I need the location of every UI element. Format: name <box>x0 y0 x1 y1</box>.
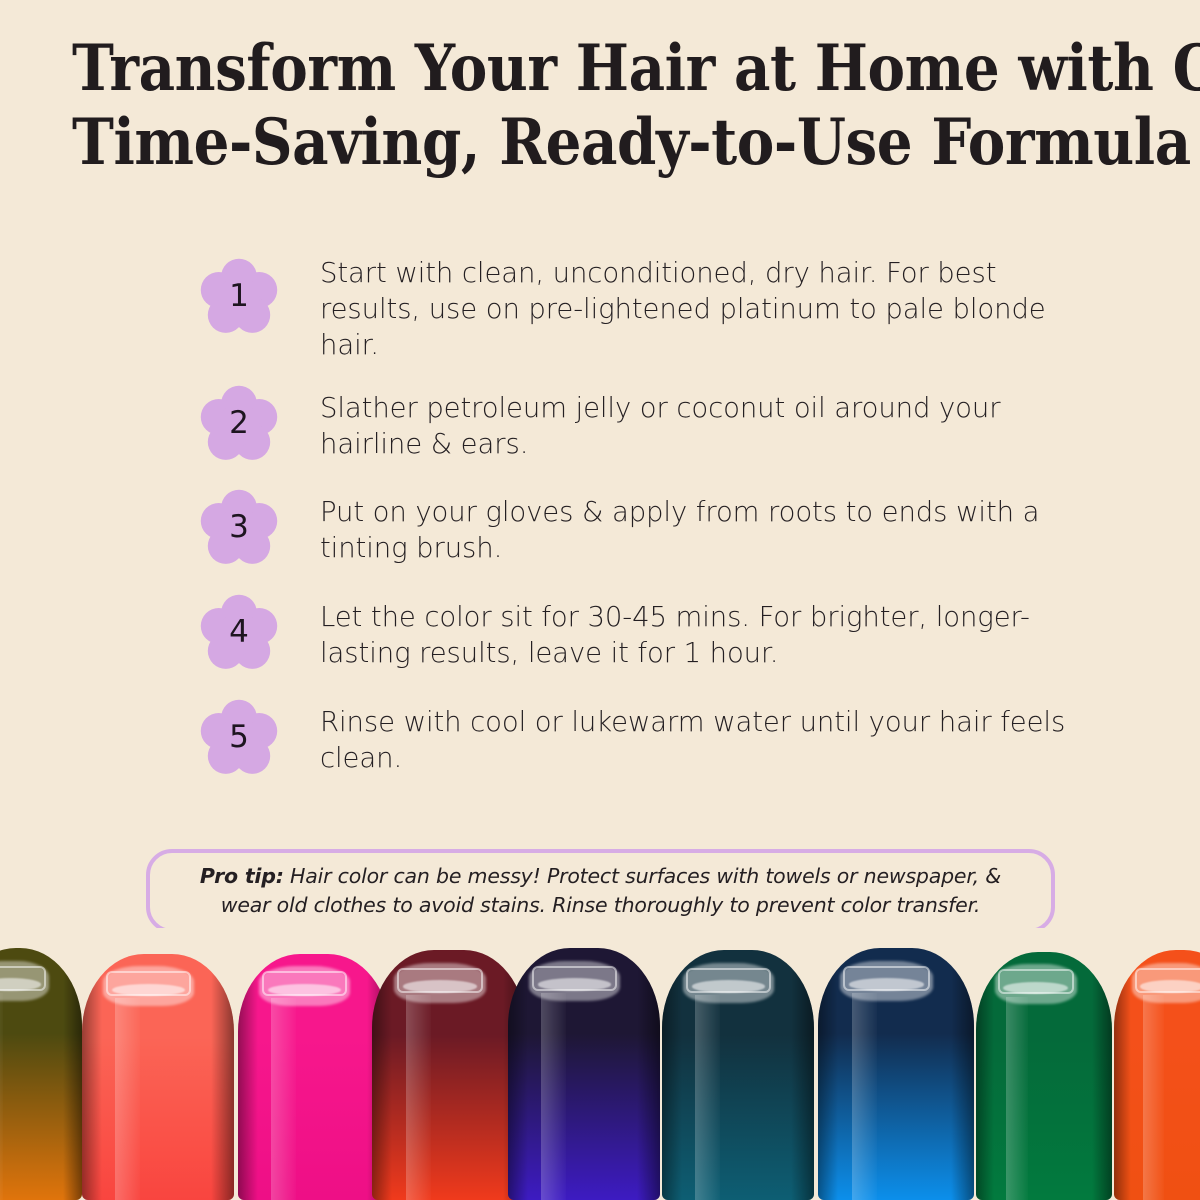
list-item: 5 Rinse with cool or lukewarm water unti… <box>200 697 1080 777</box>
bottle-edge-shadow <box>63 948 82 1200</box>
bottle-gloss <box>1006 997 1028 1200</box>
purple-bottle <box>508 948 660 1200</box>
bottle-edge-shadow <box>1114 950 1131 1200</box>
step-number: 2 <box>229 408 249 439</box>
step-badge-5: 5 <box>200 699 278 777</box>
page-title-line-1: Transform Your Hair at Home with Our <box>72 34 1128 104</box>
bottle-highlight <box>538 978 611 991</box>
step-text: Slather petroleum jelly or coconut oil a… <box>320 383 1080 463</box>
coral-bottle <box>82 954 234 1200</box>
step-number: 4 <box>229 617 249 648</box>
step-badge-3: 3 <box>200 489 278 567</box>
bottle-edge-shadow <box>637 948 660 1200</box>
bottle-edge-shadow <box>818 948 838 1200</box>
list-item: 2 Slather petroleum jelly or coconut oil… <box>200 383 1080 463</box>
bottle-highlight <box>268 984 341 996</box>
step-number: 5 <box>229 722 249 753</box>
step-number: 3 <box>229 512 249 543</box>
teal-bottle <box>662 950 814 1200</box>
bottle-edge-shadow <box>82 954 102 1200</box>
step-text: Let the color sit for 30-45 mins. For br… <box>320 592 1080 672</box>
list-item: 4 Let the color sit for 30-45 mins. For … <box>200 592 1080 672</box>
bottle-gloss <box>406 995 431 1200</box>
pro-tip-callout: Pro tip: Hair color can be messy! Protec… <box>146 849 1055 933</box>
blue-bottle <box>818 948 974 1200</box>
bottle-gloss <box>1143 995 1164 1200</box>
list-item: 1 Start with clean, unconditioned, dry h… <box>200 248 1080 363</box>
bottle-highlight <box>1140 980 1200 993</box>
step-text: Rinse with cool or lukewarm water until … <box>320 697 1080 777</box>
step-number: 1 <box>229 281 249 312</box>
pro-tip-body: Hair color can be messy! Protect surface… <box>221 864 1001 917</box>
bottle-edge-shadow <box>508 948 528 1200</box>
bottle-gloss <box>0 993 3 1200</box>
page-title: Transform Your Hair at Home with Our Tim… <box>0 34 1200 179</box>
bottle-gloss <box>541 993 565 1200</box>
bottle-edge-shadow <box>372 950 392 1200</box>
step-badge-4: 4 <box>200 594 278 672</box>
step-badge-2: 2 <box>200 385 278 463</box>
bottle-edge-shadow <box>662 950 682 1200</box>
green-bottle <box>976 952 1112 1200</box>
bottle-highlight <box>849 978 924 991</box>
bottle-edge-shadow <box>211 954 234 1200</box>
bottle-highlight <box>112 984 185 996</box>
bottle-edge-shadow <box>238 954 258 1200</box>
orange-bottle <box>1114 950 1200 1200</box>
pro-tip-label: Pro tip: <box>200 864 284 888</box>
step-text: Put on your gloves & apply from roots to… <box>320 487 1080 567</box>
pro-tip-text: Pro tip: Hair color can be messy! Protec… <box>176 862 1025 920</box>
bottle-gloss <box>852 993 877 1200</box>
infographic-page: Transform Your Hair at Home with Our Tim… <box>0 0 1200 1200</box>
pink-bottle <box>238 954 390 1200</box>
step-text: Start with clean, unconditioned, dry hai… <box>320 248 1080 363</box>
page-title-line-2: Time-Saving, Ready-to-Use Formula <box>72 108 1128 178</box>
step-badge-1: 1 <box>200 258 278 336</box>
bottle-highlight <box>692 980 765 993</box>
bottle-gloss <box>271 998 295 1200</box>
bottle-edge-shadow <box>1092 952 1112 1200</box>
bottle-edge-shadow <box>951 948 974 1200</box>
product-bottles-strip <box>0 928 1200 1200</box>
olive-bottle <box>0 948 82 1200</box>
bottle-gloss <box>115 998 139 1200</box>
bottle-edge-shadow <box>791 950 814 1200</box>
bottle-gloss <box>695 995 719 1200</box>
bottle-edge-shadow <box>976 952 994 1200</box>
list-item: 3 Put on your gloves & apply from roots … <box>200 487 1080 567</box>
steps-list: 1 Start with clean, unconditioned, dry h… <box>200 248 1080 777</box>
darkred-bottle <box>372 950 526 1200</box>
bottle-highlight <box>403 980 477 993</box>
